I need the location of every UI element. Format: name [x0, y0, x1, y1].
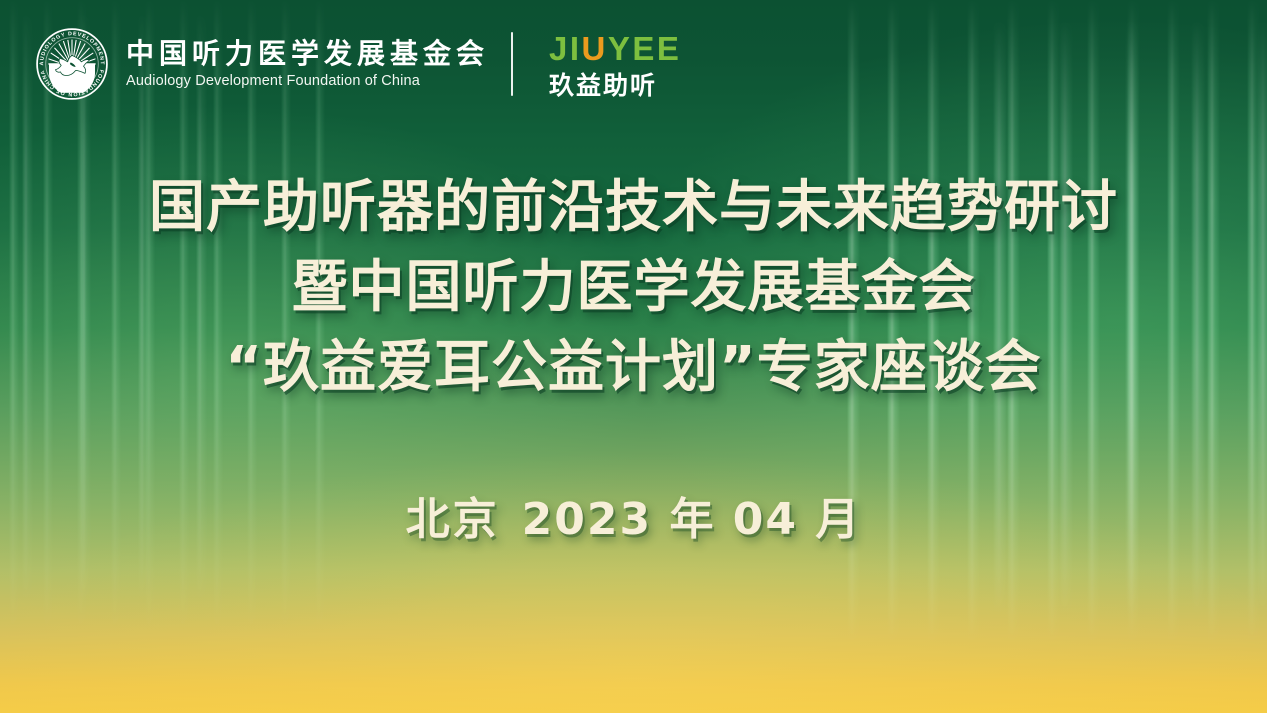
header-vertical-divider [511, 32, 513, 96]
sponsor-wordmark-accent-u: U [582, 32, 608, 65]
title-line-3: “玖益爱耳公益计划”专家座谈会 [0, 328, 1267, 408]
sponsor-wordmark-part2: YEE [608, 32, 682, 65]
foundation-logo-lockup: AUDIOLOGY DEVELOPMENT FOUNDATION OF CHIN… [36, 28, 489, 100]
foundation-name-en: Audiology Development Foundation of Chin… [126, 73, 489, 89]
foundation-name-cn: 中国听力医学发展基金会 [126, 39, 489, 70]
poster-header: AUDIOLOGY DEVELOPMENT FOUNDATION OF CHIN… [36, 28, 681, 100]
sponsor-logo-lockup: JIUYEE 玖益助听 [549, 32, 681, 99]
sponsor-name-cn: 玖益助听 [549, 74, 657, 99]
adfc-dove-sunrise-emblem-icon: AUDIOLOGY DEVELOPMENT FOUNDATION OF CHIN… [36, 28, 108, 100]
date-city: 北京 [406, 494, 500, 545]
sponsor-wordmark-part1: JI [549, 32, 582, 65]
sponsor-wordmark: JIUYEE [549, 32, 681, 65]
foundation-name-block: 中国听力医学发展基金会 Audiology Development Founda… [126, 39, 489, 89]
event-poster: AUDIOLOGY DEVELOPMENT FOUNDATION OF CHIN… [0, 0, 1267, 713]
date-value: 2023 年 04 月 [522, 494, 862, 545]
title-line-1: 国产助听器的前沿技术与未来趋势研讨 [0, 168, 1267, 248]
poster-date-line: 北京2023 年 04 月 [0, 489, 1267, 551]
title-line-2: 暨中国听力医学发展基金会 [0, 248, 1267, 328]
poster-title-block: 国产助听器的前沿技术与未来趋势研讨 暨中国听力医学发展基金会 “玖益爱耳公益计划… [0, 168, 1267, 408]
